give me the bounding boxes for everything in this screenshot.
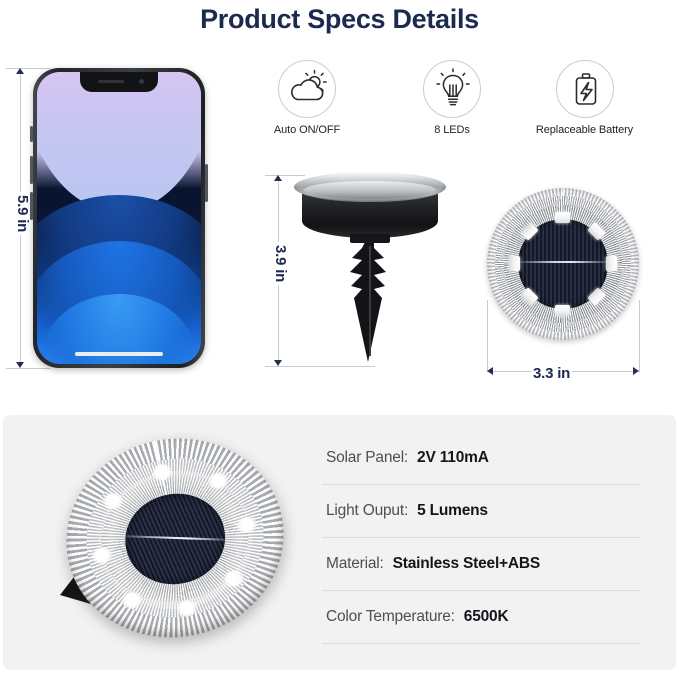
row-divider xyxy=(322,643,640,644)
solar-light-top-view xyxy=(487,188,639,340)
led-3 xyxy=(606,256,617,271)
light-height-arrow-bottom xyxy=(274,360,282,366)
spec-value: 6500K xyxy=(464,608,509,626)
phone-dim-arrow-top xyxy=(16,68,24,74)
phone-dim-top-guide xyxy=(6,68,50,69)
light-width-left-guide xyxy=(487,300,488,372)
stake-neck xyxy=(350,234,390,243)
spec-value: 5 Lumens xyxy=(417,502,488,520)
wallpaper-dome xyxy=(37,72,201,212)
solar-light-side-view xyxy=(290,172,450,367)
led-1 xyxy=(555,212,570,223)
spec-label: Light Ouput: xyxy=(326,502,408,520)
table-row: Color Temperature: 6500K xyxy=(322,591,642,644)
feature-battery: Replaceable Battery xyxy=(507,60,662,136)
light-width-right-guide xyxy=(639,300,640,372)
feature-auto-on-off: Auto ON/OFF xyxy=(252,60,362,136)
hero-outer-rim xyxy=(48,419,302,658)
feature-leds: 8 LEDs xyxy=(397,60,507,136)
table-row: Solar Panel: 2V 110mA xyxy=(322,432,642,485)
feature-label: 8 LEDs xyxy=(397,124,507,136)
lightbulb-icon xyxy=(423,60,481,118)
phone-notch xyxy=(80,72,158,92)
phone-dim-bottom-guide xyxy=(6,368,50,369)
phone-scale-reference xyxy=(33,68,205,368)
table-row: Material: Stainless Steel+ABS xyxy=(322,538,642,591)
light-height-arrow-top xyxy=(274,175,282,181)
phone-mute-switch xyxy=(30,126,33,142)
feature-icons-row: Auto ON/OFF 8 L xyxy=(255,60,655,140)
light-width-arrow-left xyxy=(487,367,493,375)
specs-table: Solar Panel: 2V 110mA Light Ouput: 5 Lum… xyxy=(322,432,642,644)
ground-stake-spike xyxy=(336,240,404,362)
light-width-label: 3.3 in xyxy=(531,362,572,385)
phone-volume-down xyxy=(30,192,33,220)
feature-label: Replaceable Battery xyxy=(507,124,662,136)
led-5 xyxy=(555,305,570,316)
spec-label: Color Temperature: xyxy=(326,608,455,626)
phone-dim-arrow-bottom xyxy=(16,362,24,368)
light-width-arrow-right xyxy=(633,367,639,375)
led-7 xyxy=(509,256,520,271)
spec-value: 2V 110mA xyxy=(417,449,489,467)
battery-bolt-icon xyxy=(556,60,614,118)
page-title: Product Specs Details xyxy=(0,4,679,35)
spec-label: Solar Panel: xyxy=(326,449,408,467)
light-rim xyxy=(304,181,436,199)
sun-cloud-icon xyxy=(278,60,336,118)
phone-power-button xyxy=(205,164,208,202)
spec-label: Material: xyxy=(326,555,384,573)
feature-label: Auto ON/OFF xyxy=(252,124,362,136)
phone-volume-up xyxy=(30,156,33,184)
phone-screen xyxy=(37,72,201,364)
spec-value: Stainless Steel+ABS xyxy=(393,555,540,573)
solar-light-hero-image xyxy=(42,435,292,650)
phone-home-indicator xyxy=(75,352,163,356)
light-height-label: 3.9 in xyxy=(270,242,291,285)
table-row: Light Ouput: 5 Lumens xyxy=(322,485,642,538)
